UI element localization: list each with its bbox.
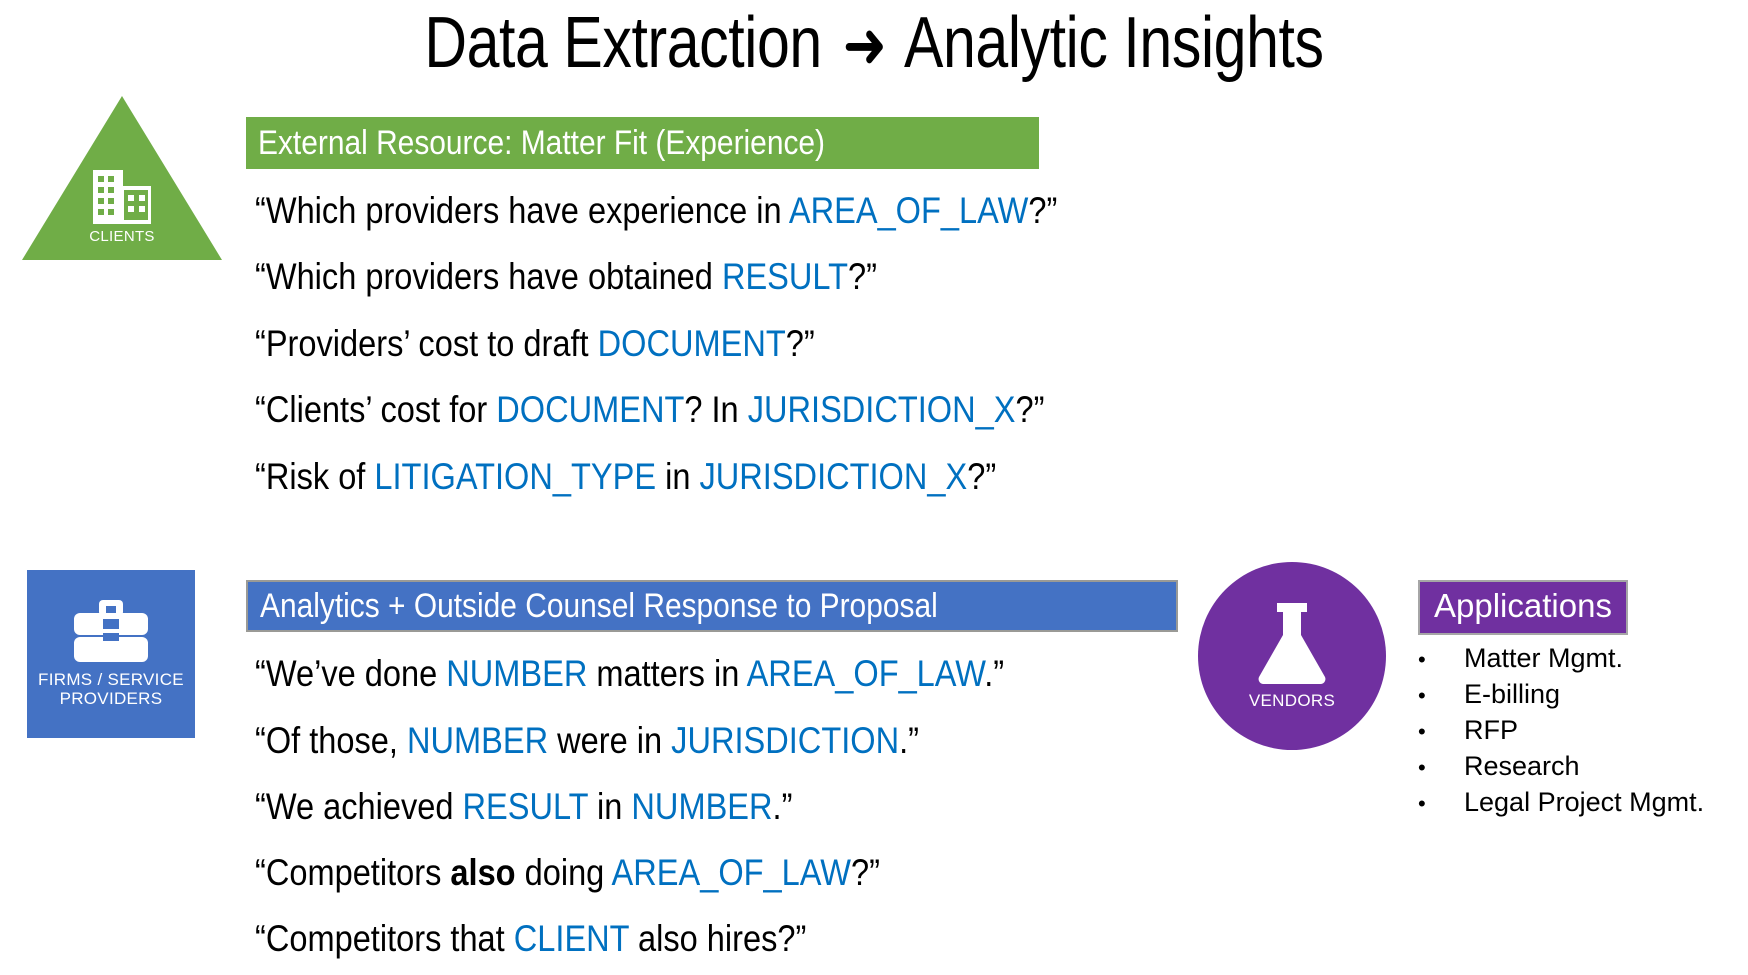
bullet-icon: • xyxy=(1418,793,1464,815)
quote-text: “Providers’ cost to draft xyxy=(255,323,598,364)
quote-line: “Providers’ cost to draft DOCUMENT?” xyxy=(255,325,891,362)
placeholder-token: NUMBER xyxy=(446,653,587,694)
persona-label-firms: FIRMS / SERVICE PROVIDERS xyxy=(38,670,184,708)
persona-label-vendors: VENDORS xyxy=(1249,691,1335,710)
list-item-label: RFP xyxy=(1464,713,1518,749)
quote-text: “Which providers have obtained xyxy=(255,256,722,297)
page-title-left: Data Extraction xyxy=(424,3,821,83)
page-title: Data Extraction ➜ Analytic Insights xyxy=(157,4,1590,83)
quote-text: “Risk of xyxy=(255,456,374,497)
quote-text: ?” xyxy=(1028,190,1057,231)
quote-line: “Of those, NUMBER were in JURISDICTION.” xyxy=(255,722,1010,759)
briefcase-icon xyxy=(72,600,150,662)
section-bar-external-resource: External Resource: Matter Fit (Experienc… xyxy=(246,117,1039,169)
list-item: •RFP xyxy=(1418,713,1668,749)
section-bar-analytics-response: Analytics + Outside Counsel Response to … xyxy=(246,580,1178,632)
quote-text: .” xyxy=(899,720,919,761)
quote-text: in xyxy=(656,456,699,497)
quote-text: “Clients’ cost for xyxy=(255,389,496,430)
quote-line: “Competitors that CLIENT also hires?” xyxy=(255,920,882,957)
placeholder-token: NUMBER xyxy=(407,720,548,761)
persona-label-clients: CLIENTS xyxy=(89,229,154,246)
quote-text: “We achieved xyxy=(255,786,463,827)
persona-badge-firms: FIRMS / SERVICE PROVIDERS xyxy=(27,570,195,738)
bullet-icon: • xyxy=(1418,685,1464,707)
quote-text: “Of those, xyxy=(255,720,407,761)
quote-text: “Competitors xyxy=(255,852,450,893)
persona-badge-vendors: VENDORS xyxy=(1198,562,1386,750)
placeholder-token: NUMBER xyxy=(631,786,772,827)
quote-text: matters in xyxy=(587,653,746,694)
quote-text: ?” xyxy=(786,323,815,364)
placeholder-token: AREA_OF_LAW xyxy=(789,190,1028,231)
list-item-label: Legal Project Mgmt. xyxy=(1464,785,1704,821)
list-item: •Matter Mgmt. xyxy=(1418,641,1668,677)
quote-text: “Which providers have experience in xyxy=(255,190,789,231)
quote-line: “Risk of LITIGATION_TYPE in JURISDICTION… xyxy=(255,458,1097,495)
placeholder-token: RESULT xyxy=(463,786,588,827)
quote-line: “Which providers have obtained RESULT?” xyxy=(255,258,962,295)
section-bar-label: External Resource: Matter Fit (Experienc… xyxy=(258,126,825,160)
placeholder-token: RESULT xyxy=(722,256,848,297)
list-item-label: E-billing xyxy=(1464,677,1560,713)
quote-line: “Competitors also doing AREA_OF_LAW?” xyxy=(255,854,965,891)
quote-text: “We’ve done xyxy=(255,653,446,694)
placeholder-token: DOCUMENT xyxy=(496,389,684,430)
persona-badge-clients: CLIENTS xyxy=(22,96,222,260)
quote-text: in xyxy=(588,786,631,827)
list-item: •E-billing xyxy=(1418,677,1668,713)
placeholder-token: JURISDICTION_X xyxy=(748,389,1016,430)
bullet-icon: • xyxy=(1418,649,1464,671)
list-item: •Research xyxy=(1418,749,1668,785)
persona-label-firms-line2: PROVIDERS xyxy=(60,689,163,708)
placeholder-token: JURISDICTION xyxy=(671,720,899,761)
placeholder-token: CLIENT xyxy=(514,918,629,959)
quote-line: “We achieved RESULT in NUMBER.” xyxy=(255,788,866,825)
persona-label-firms-line1: FIRMS / SERVICE xyxy=(38,670,184,689)
list-item-label: Research xyxy=(1464,749,1580,785)
section-bar-label: Analytics + Outside Counsel Response to … xyxy=(260,589,938,623)
quote-text: ? In xyxy=(684,389,747,430)
quote-text: ?” xyxy=(967,456,996,497)
quote-text: ?” xyxy=(851,852,880,893)
applications-list: •Matter Mgmt. •E-billing •RFP •Research … xyxy=(1418,641,1668,821)
quote-text: ?” xyxy=(1015,389,1044,430)
placeholder-token: JURISDICTION_X xyxy=(699,456,967,497)
placeholder-token: AREA_OF_LAW xyxy=(612,852,851,893)
quote-text: .” xyxy=(984,653,1004,694)
applications-title: Applications xyxy=(1418,580,1628,635)
placeholder-token: DOCUMENT xyxy=(598,323,786,364)
quote-line: “We’ve done NUMBER matters in AREA_OF_LA… xyxy=(255,655,1106,692)
quote-text: “Competitors that xyxy=(255,918,514,959)
list-item: •Legal Project Mgmt. xyxy=(1418,785,1668,821)
bullet-icon: • xyxy=(1418,721,1464,743)
bullet-icon: • xyxy=(1418,757,1464,779)
list-item-label: Matter Mgmt. xyxy=(1464,641,1623,677)
quote-text: ?” xyxy=(848,256,877,297)
flask-icon xyxy=(1253,601,1331,685)
emphasis-text: also xyxy=(450,852,515,893)
quote-text: also hires?” xyxy=(629,918,806,959)
applications-panel: Applications •Matter Mgmt. •E-billing •R… xyxy=(1418,580,1668,821)
placeholder-token: LITIGATION_TYPE xyxy=(374,456,656,497)
right-arrow-icon: ➜ xyxy=(838,9,891,83)
quote-line: “Clients’ cost for DOCUMENT? In JURISDIC… xyxy=(255,391,1152,428)
quote-text: were in xyxy=(548,720,671,761)
quote-text: .” xyxy=(773,786,793,827)
quote-text: doing xyxy=(516,852,612,893)
quote-line: “Which providers have experience in AREA… xyxy=(255,192,1167,229)
page-title-right: Analytic Insights xyxy=(904,3,1324,83)
placeholder-token: AREA_OF_LAW xyxy=(747,653,985,694)
office-building-icon xyxy=(91,168,153,226)
